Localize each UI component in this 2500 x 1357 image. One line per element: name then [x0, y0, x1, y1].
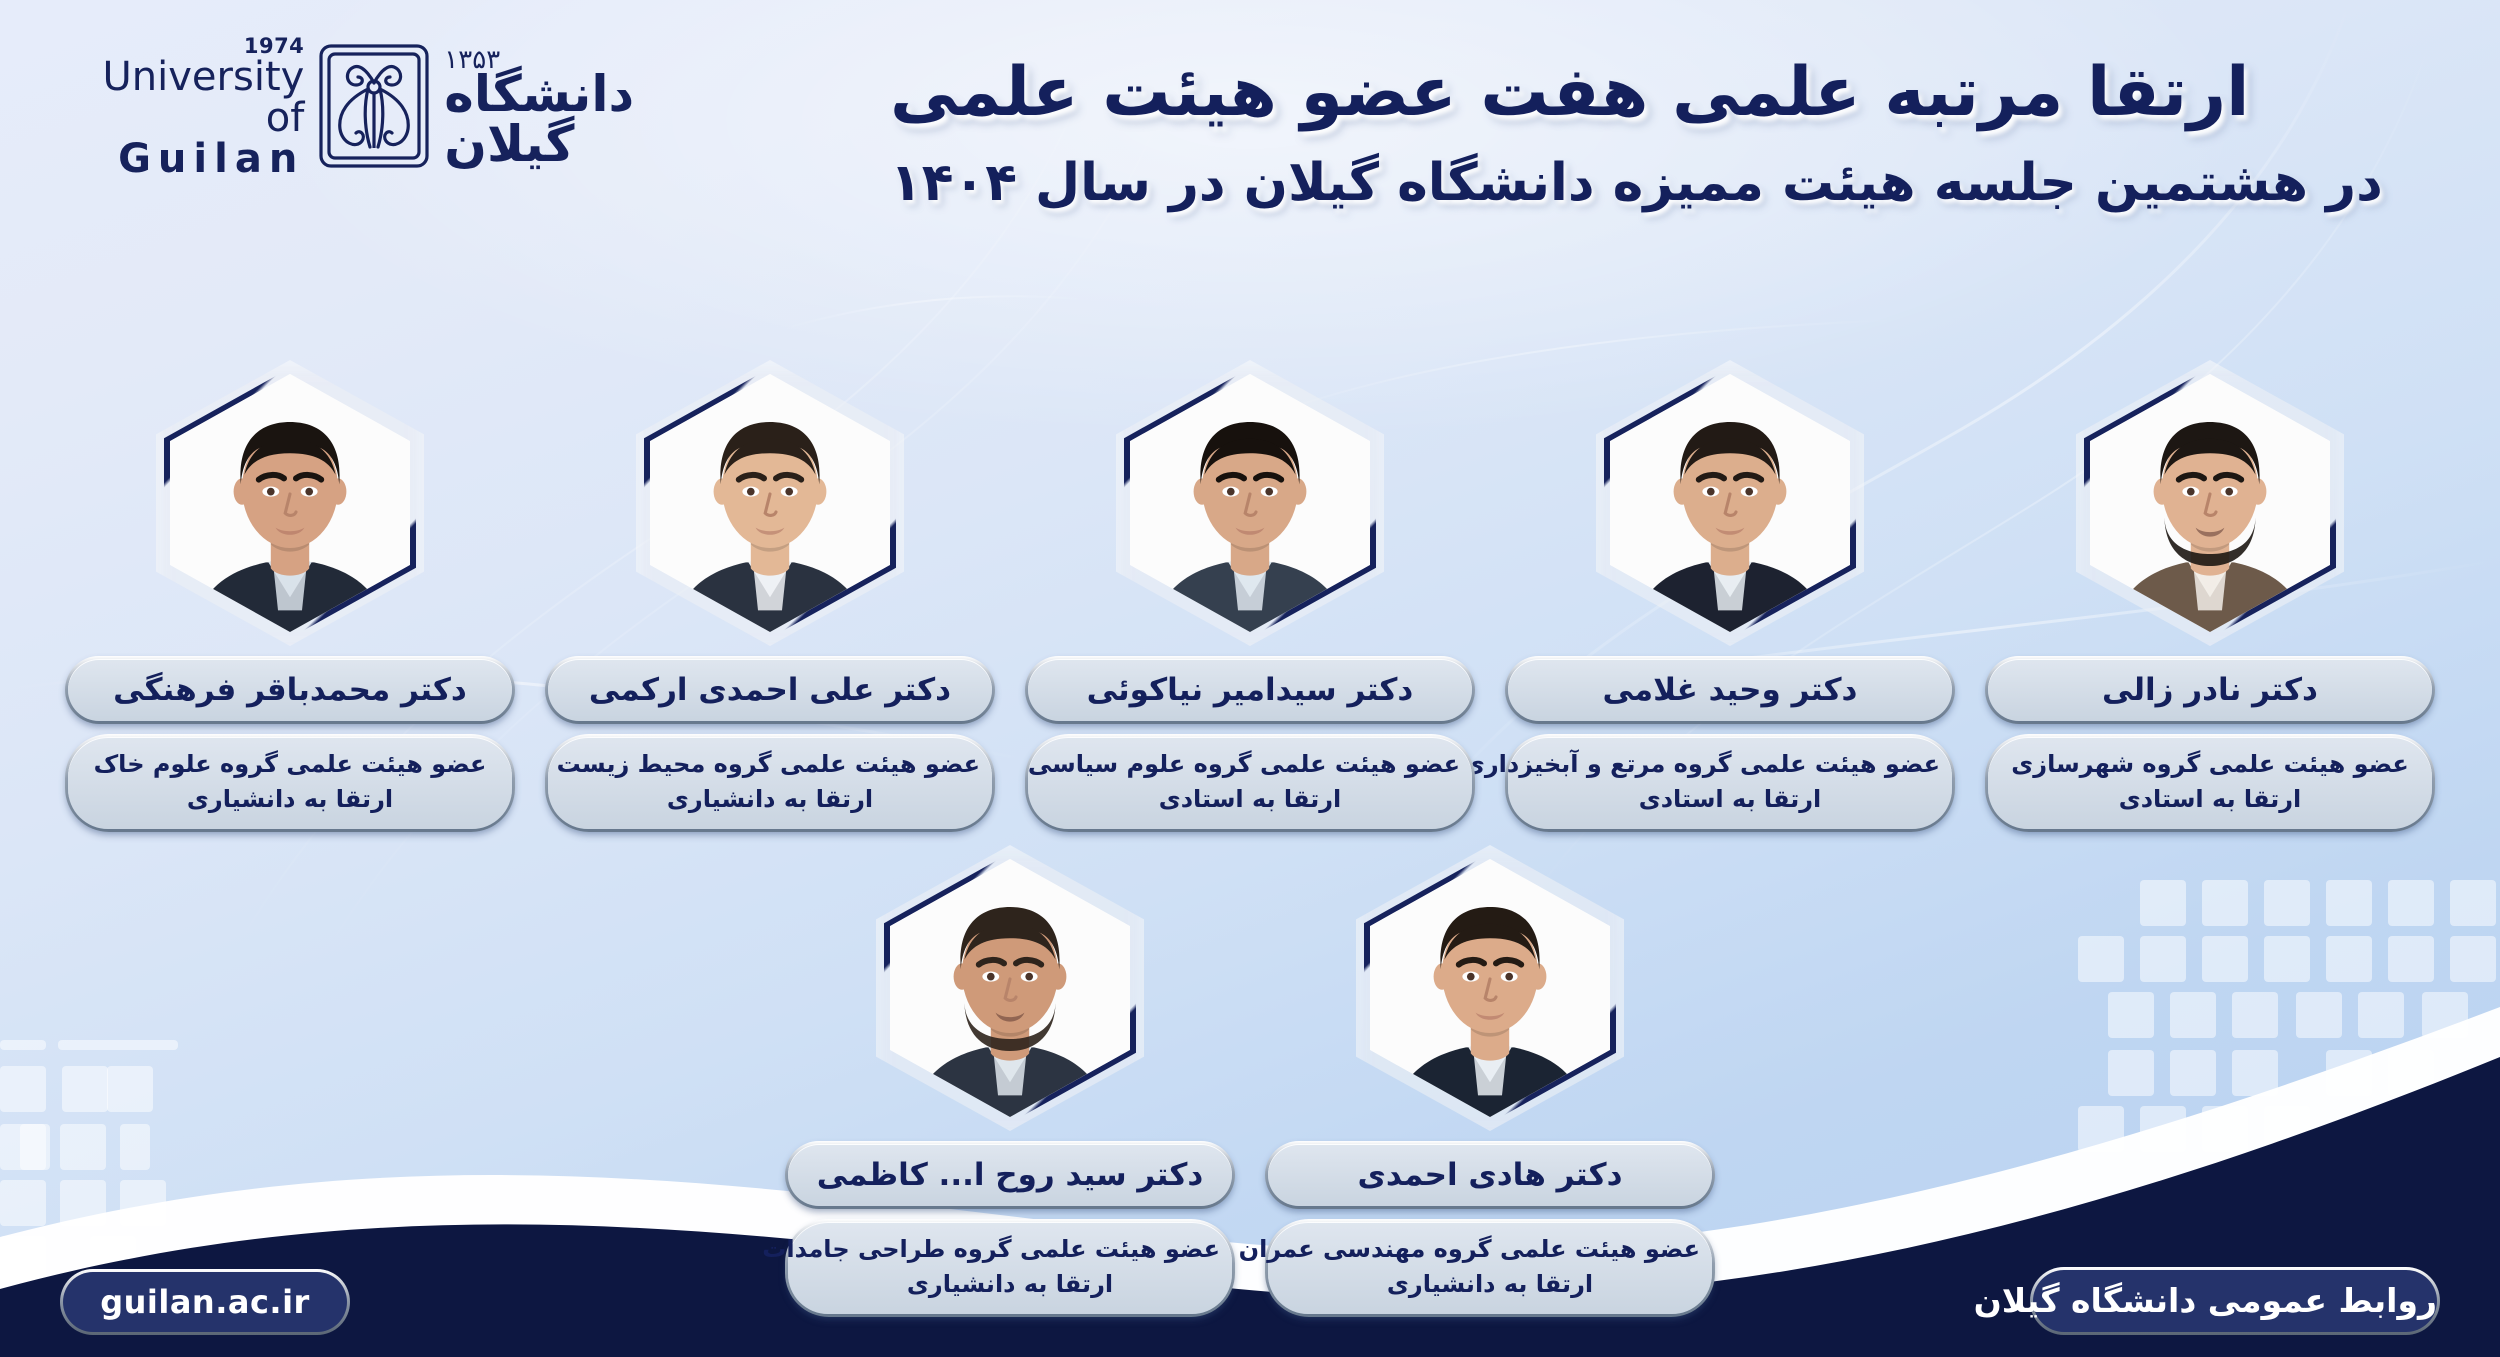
role-pill-frame: عضو هیئت علمی گروه علوم خاکارتقا به دانش… — [65, 734, 515, 832]
person-promotion: ارتقا به استادی — [1520, 782, 1940, 817]
person-department: عضو هیئت علمی گروه محیط زیست — [560, 747, 980, 782]
hexagon-photo-frame — [2076, 360, 2344, 646]
person-name: دکتر نادر زالی — [1988, 659, 2432, 721]
pill-spacer — [785, 1209, 1235, 1219]
name-pill-frame: دکتر سیدامیر نیاکوئی — [1025, 656, 1475, 724]
person-name: دکتر هادی احمدی — [1268, 1144, 1712, 1206]
guilan-emblem-icon — [318, 43, 430, 173]
hexagon-photo-frame — [1356, 845, 1624, 1131]
hexagon-photo-frame — [636, 360, 904, 646]
pill-spacer — [65, 724, 515, 734]
person-promotion: ارتقا به استادی — [1040, 782, 1460, 817]
website-link[interactable]: guilan.ac.ir — [63, 1272, 347, 1332]
person-role: عضو هیئت علمی گروه شهرسازیارتقا به استاد… — [1988, 737, 2432, 829]
person-name: دکتر وحید غلامی — [1508, 659, 1952, 721]
name-pill-frame: دکتر نادر زالی — [1985, 656, 2435, 724]
name-pill-frame: دکتر سید روح ا... کاظمی — [785, 1141, 1235, 1209]
pill-spacer — [545, 724, 995, 734]
person-role: عضو هیئت علمی گروه مرتع و آبخیزداریارتقا… — [1508, 737, 1952, 829]
person-department: عضو هیئت علمی گروه علوم خاک — [80, 747, 500, 782]
person-name: دکتر سیدامیر نیاکوئی — [1028, 659, 1472, 721]
person-card: دکتر وحید غلامیعضو هیئت علمی گروه مرتع و… — [1505, 360, 1955, 832]
person-promotion: ارتقا به استادی — [2000, 782, 2420, 817]
role-pill-frame: عضو هیئت علمی گروه مرتع و آبخیزداریارتقا… — [1505, 734, 1955, 832]
logo-line1-en: University of — [90, 57, 304, 139]
person-promotion: ارتقا به دانشیاری — [560, 782, 980, 817]
person-name: دکتر محمدباقر فرهنگی — [68, 659, 512, 721]
person-card: دکتر علی احمدی ارکمیعضو هیئت علمی گروه م… — [545, 360, 995, 832]
page-subtitle: در هشتمین جلسه هیئت ممیزه دانشگاه گیلان … — [890, 151, 2390, 216]
person-department: عضو هیئت علمی گروه شهرسازی — [2000, 747, 2420, 782]
hexagon-photo-frame — [876, 845, 1144, 1131]
person-role: عضو هیئت علمی گروه علوم سیاسیارتقا به اس… — [1028, 737, 1472, 829]
name-pill-frame: دکتر وحید غلامی — [1505, 656, 1955, 724]
person-name: دکتر سید روح ا... کاظمی — [788, 1144, 1232, 1206]
person-card: دکتر سیدامیر نیاکوئیعضو هیئت علمی گروه ع… — [1025, 360, 1475, 832]
poster-canvas: 1974 University of Guilan ۱۳۵۳ دانشگاه گ… — [0, 0, 2500, 1357]
hexagon-photo-frame — [1116, 360, 1384, 646]
person-role: عضو هیئت علمی گروه علوم خاکارتقا به دانش… — [68, 737, 512, 829]
role-pill-frame: عضو هیئت علمی گروه علوم سیاسیارتقا به اس… — [1025, 734, 1475, 832]
person-department: عضو هیئت علمی گروه مرتع و آبخیزداری — [1520, 747, 1940, 782]
pill-spacer — [1985, 724, 2435, 734]
person-card: دکتر محمدباقر فرهنگیعضو هیئت علمی گروه ع… — [65, 360, 515, 832]
person-card: دکتر نادر زالیعضو هیئت علمی گروه شهرسازی… — [1985, 360, 2435, 832]
public-relations-label: روابط عمومی دانشگاه گیلان — [2033, 1270, 2437, 1332]
logo-line2-en: Guilan — [90, 139, 304, 180]
role-pill-frame: عضو هیئت علمی گروه محیط زیستارتقا به دان… — [545, 734, 995, 832]
hexagon-photo-frame — [156, 360, 424, 646]
footer-bar: guilan.ac.ir روابط عمومی دانشگاه گیلان — [0, 1237, 2500, 1357]
website-chip-frame: guilan.ac.ir — [60, 1269, 350, 1335]
university-logo: 1974 University of Guilan ۱۳۵۳ دانشگاه گ… — [90, 40, 730, 175]
poster-title-block: ارتقا مرتبه علمی هفت عضو هیئت علمی در هش… — [890, 50, 2390, 216]
name-pill-frame: دکتر علی احمدی ارکمی — [545, 656, 995, 724]
public-relations-chip-frame: روابط عمومی دانشگاه گیلان — [2030, 1267, 2440, 1335]
logo-persian-text: ۱۳۵۳ دانشگاه گیلان — [444, 47, 730, 169]
logo-english-text: 1974 University of Guilan — [90, 36, 304, 180]
pill-spacer — [1505, 724, 1955, 734]
pill-spacer — [1025, 724, 1475, 734]
person-name: دکتر علی احمدی ارکمی — [548, 659, 992, 721]
pill-spacer — [1265, 1209, 1715, 1219]
person-department: عضو هیئت علمی گروه علوم سیاسی — [1040, 747, 1460, 782]
hexagon-photo-frame — [1596, 360, 1864, 646]
page-title: ارتقا مرتبه علمی هفت عضو هیئت علمی — [890, 50, 2390, 135]
name-pill-frame: دکتر هادی احمدی — [1265, 1141, 1715, 1209]
person-promotion: ارتقا به دانشیاری — [80, 782, 500, 817]
role-pill-frame: عضو هیئت علمی گروه شهرسازیارتقا به استاد… — [1985, 734, 2435, 832]
name-pill-frame: دکتر محمدباقر فرهنگی — [65, 656, 515, 724]
people-row-top: دکتر نادر زالیعضو هیئت علمی گروه شهرسازی… — [0, 360, 2500, 832]
person-role: عضو هیئت علمی گروه محیط زیستارتقا به دان… — [548, 737, 992, 829]
logo-name-fa: دانشگاه گیلان — [444, 69, 730, 169]
